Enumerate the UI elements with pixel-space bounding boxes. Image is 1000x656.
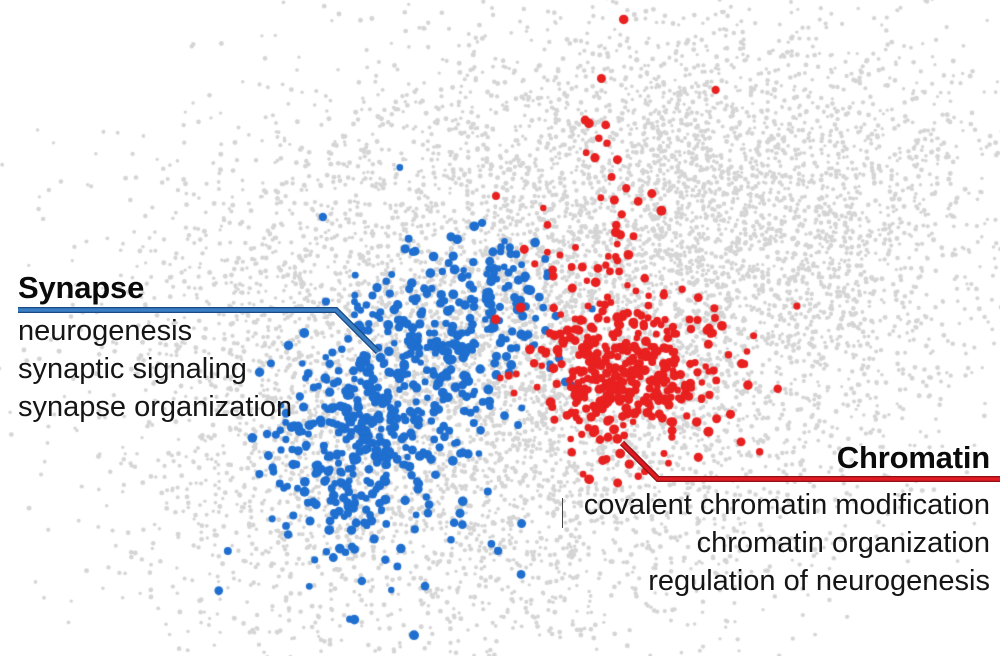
text-caret (562, 498, 563, 528)
chromatin-cluster-label: Chromatin covalent chromatin modificatio… (584, 440, 990, 600)
scatter-figure: Synapse neurogenesis synaptic signaling … (0, 0, 1000, 656)
synapse-term-list: neurogenesis synaptic signaling synapse … (18, 312, 292, 426)
synapse-cluster-label: Synapse neurogenesis synaptic signaling … (18, 270, 292, 426)
chromatin-term-3: regulation of neurogenesis (584, 562, 990, 600)
synapse-cluster-title: Synapse (18, 270, 292, 306)
synapse-term-3: synapse organization (18, 388, 292, 426)
chromatin-term-1: covalent chromatin modification (584, 486, 990, 524)
synapse-term-1: neurogenesis (18, 312, 292, 350)
chromatin-term-2: chromatin organization (584, 524, 990, 562)
chromatin-term-list: covalent chromatin modification chromati… (584, 486, 990, 600)
chromatin-cluster-title: Chromatin (584, 440, 990, 476)
synapse-term-2: synaptic signaling (18, 350, 292, 388)
